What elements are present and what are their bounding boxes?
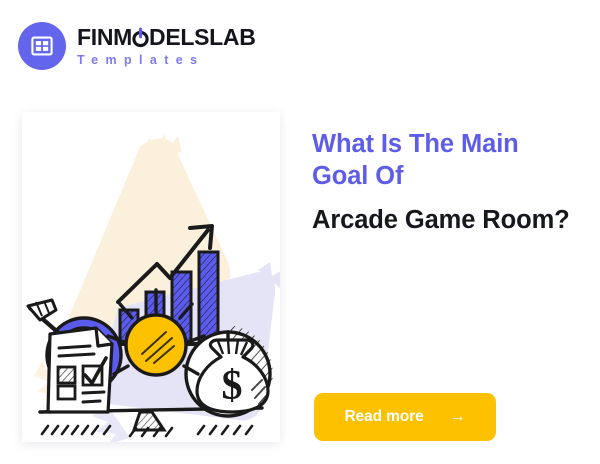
- headline-secondary: Arcade Game Room?: [312, 204, 574, 236]
- headline-primary: What Is The Main Goal Of: [312, 128, 574, 192]
- headline-block: What Is The Main Goal Of Arcade Game Roo…: [312, 128, 574, 236]
- brand-name: FINM DELSLAB: [77, 26, 256, 49]
- brand-name-part1: FINM: [77, 26, 132, 49]
- read-more-label: Read more: [344, 408, 423, 426]
- brand-text: FINM DELSLAB Templates: [77, 26, 256, 67]
- brand-mark-circle: [18, 22, 66, 70]
- brand-logo[interactable]: FINM DELSLAB Templates: [18, 22, 256, 70]
- poster-canvas: FINM DELSLAB Templates: [0, 0, 600, 464]
- read-more-button[interactable]: Read more →: [314, 393, 496, 441]
- document-checklist-icon: [48, 328, 112, 412]
- business-analytics-illustration: $: [22, 112, 280, 442]
- brand-tagline: Templates: [77, 54, 256, 67]
- svg-text:$: $: [222, 363, 243, 409]
- brand-name-part2: DELSLAB: [149, 26, 256, 49]
- power-o-icon: [132, 26, 149, 48]
- arrow-right-icon: →: [450, 409, 466, 425]
- grid-squares-icon: [30, 34, 54, 58]
- illustration-panel: $: [22, 112, 280, 442]
